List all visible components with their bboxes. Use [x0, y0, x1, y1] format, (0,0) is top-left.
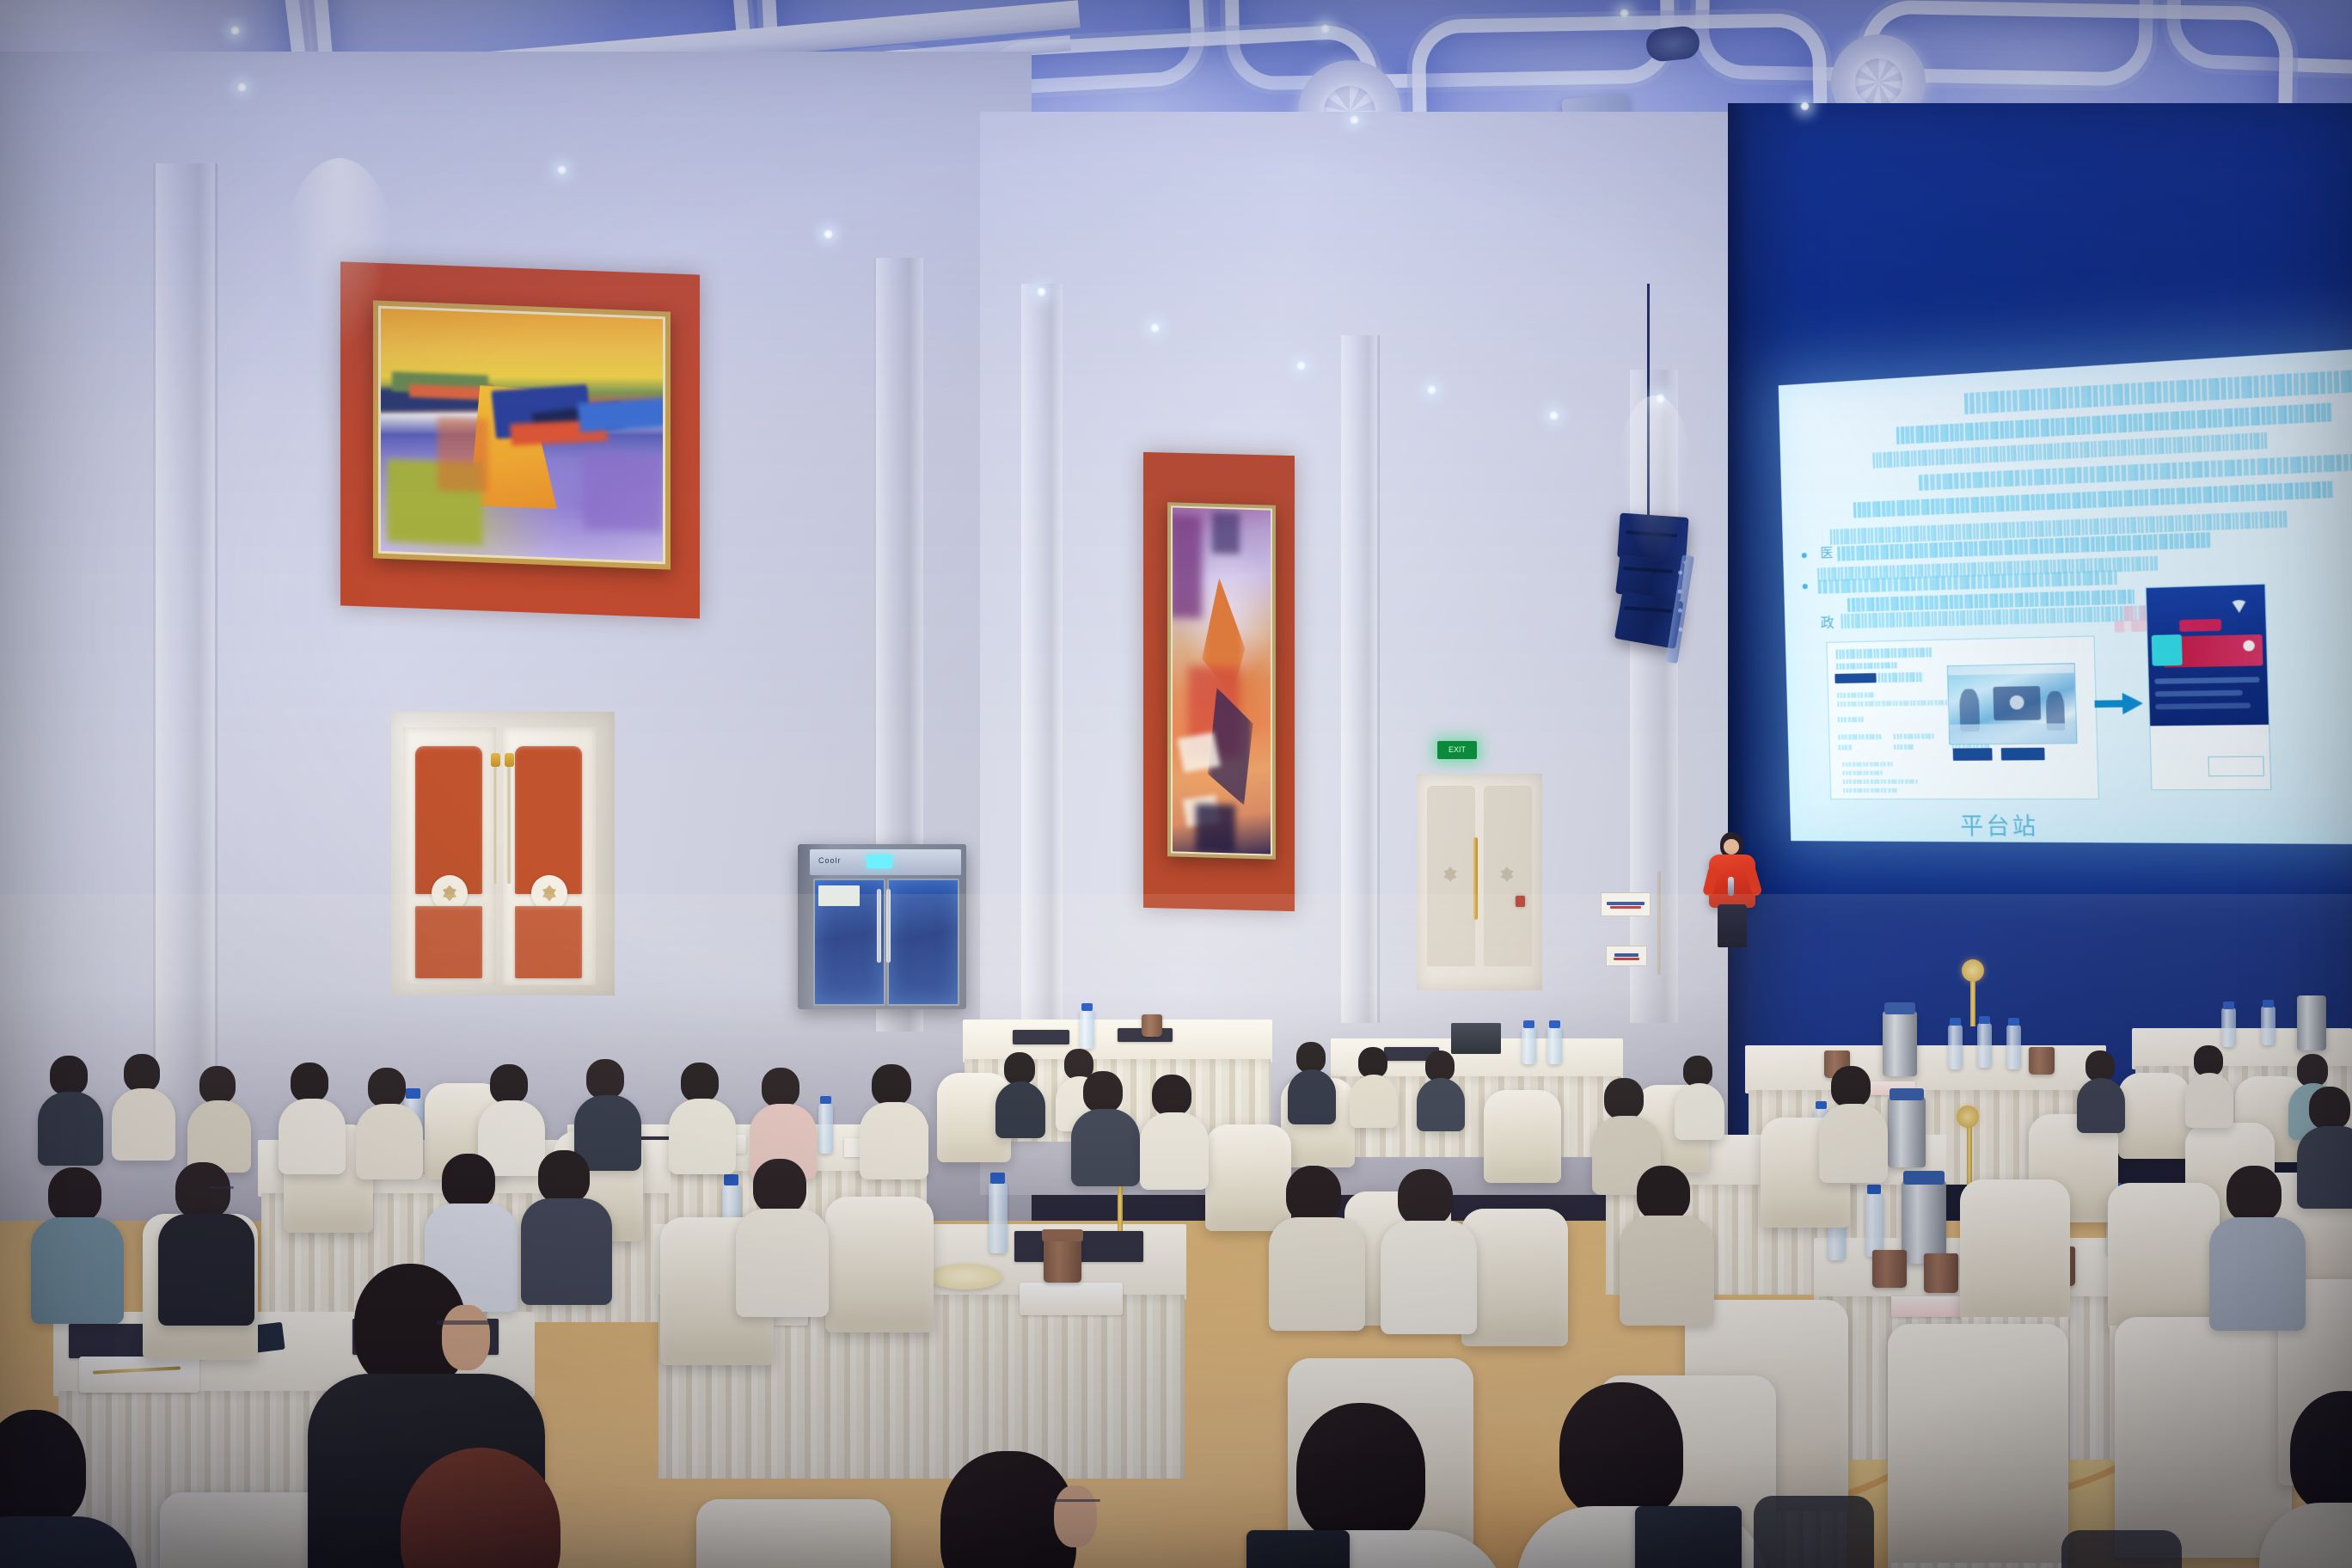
- audience-seating-area: [0, 894, 2352, 1568]
- bottle-cap: [1979, 1016, 1990, 1024]
- ceiling-downlight: [237, 83, 247, 92]
- attendee-head: [1425, 1050, 1455, 1081]
- card-stat-value: [1839, 744, 1853, 750]
- attendee-head: [1083, 1071, 1123, 1112]
- bottle-cap: [1950, 1018, 1961, 1026]
- shoulder-bag: [1246, 1530, 1350, 1568]
- mobile-app-screenshot: [2146, 584, 2272, 791]
- card-list-item: [1842, 771, 1882, 775]
- attendee-head: [368, 1068, 406, 1107]
- ceiling-downlight: [230, 26, 240, 35]
- banquet-chair[interactable]: [1205, 1124, 1291, 1231]
- attendee-torso: [1819, 1104, 1888, 1183]
- vacuum-thermos: [1888, 1097, 1926, 1167]
- bottle-cap: [820, 1096, 831, 1104]
- tote-bag: [1635, 1506, 1742, 1568]
- attendee-head: [753, 1159, 806, 1214]
- bottle-cap: [406, 1088, 420, 1099]
- slide-secondary-button: [2001, 748, 2045, 761]
- attendee-head: [1296, 1042, 1326, 1073]
- table-number-medallion: [1957, 1106, 1979, 1128]
- attendee-head: [681, 1063, 719, 1102]
- attendee-head: [2309, 1087, 2350, 1130]
- thermos-lid: [1903, 1171, 1945, 1185]
- ceiling-downlight: [1350, 115, 1359, 125]
- attendee-head: [872, 1064, 911, 1106]
- phone-badge-red: [2179, 619, 2221, 632]
- attendee-head: [1637, 1166, 1690, 1221]
- attendee-torso: [31, 1217, 124, 1324]
- attendee-torso: [1381, 1221, 1477, 1334]
- card-tag-badge: [1834, 673, 1876, 683]
- water-bottle: [2261, 1006, 2275, 1045]
- attendee-torso: [1350, 1075, 1398, 1128]
- exit-sign: EXIT: [1437, 741, 1477, 759]
- attendee-torso: [1675, 1083, 1724, 1140]
- banquet-chair[interactable]: [2108, 1183, 2220, 1331]
- door-handle-cap: [491, 753, 500, 767]
- photo-monitor-logo: [2010, 695, 2024, 710]
- banquet-chair[interactable]: [696, 1499, 891, 1568]
- candy-plate: [928, 1264, 1002, 1289]
- phone-badge-cyan: [2152, 634, 2183, 666]
- water-bottle: [1948, 1025, 1963, 1069]
- attendee-head: [50, 1056, 88, 1095]
- attendee-torso: [2209, 1217, 2306, 1331]
- attendee-torso: [1620, 1216, 1714, 1326]
- slide-bullet-marker: [1802, 553, 1807, 558]
- bottle-cap: [1816, 1101, 1827, 1109]
- banquet-chair[interactable]: [1461, 1209, 1568, 1346]
- meeting-room-photo: [1947, 663, 2078, 744]
- attendee-torso: [2185, 1073, 2233, 1128]
- attendee-head: [2086, 1050, 2115, 1081]
- eyeglasses: [1050, 1499, 1100, 1502]
- table-number-stand: [1967, 1124, 1972, 1190]
- placemat: [1013, 1030, 1069, 1044]
- card-meta-text: [1836, 662, 1897, 670]
- cooler-display: [867, 854, 892, 868]
- attendee-torso: [860, 1102, 928, 1179]
- bottle-cap: [1549, 1020, 1560, 1028]
- card-body-text: [1838, 717, 1864, 722]
- ceramic-teacup: [2029, 1047, 2055, 1075]
- right-arrow-icon: [2094, 690, 2143, 716]
- attendee-head: [586, 1059, 624, 1099]
- attendee-torso: [669, 1099, 736, 1174]
- water-bottle: [989, 1183, 1008, 1253]
- attendee-head: [2226, 1166, 2282, 1222]
- table-number-stand: [1970, 977, 1975, 1026]
- attendee-torso: [995, 1081, 1045, 1138]
- attendee-face: [1054, 1485, 1097, 1547]
- card-list-item: [1843, 780, 1918, 784]
- card-stat-label: [1838, 734, 1881, 740]
- door-handle[interactable]: [493, 763, 498, 884]
- folded-napkin: [1020, 1283, 1123, 1315]
- bottle-cap: [2223, 1001, 2234, 1009]
- conference-hall-photo: EXIT Coolr: [0, 0, 2352, 1568]
- card-list-item: [1843, 788, 1897, 793]
- attendee-torso: [2077, 1078, 2125, 1133]
- attendee-head: [490, 1064, 528, 1104]
- folded-napkin: [79, 1357, 199, 1393]
- attendee-head: [1358, 1047, 1387, 1078]
- thermos-lid: [1890, 1088, 1924, 1100]
- water-bottle: [1865, 1193, 1883, 1257]
- attendee-torso: [1071, 1109, 1140, 1186]
- card-body-text: [1837, 700, 1956, 707]
- bottle-cap: [2008, 1018, 2019, 1026]
- ceiling-downlight: [1296, 361, 1306, 371]
- attendee-torso: [2297, 1126, 2352, 1209]
- attendee-head: [762, 1068, 799, 1107]
- presenter-face: [1724, 839, 1739, 854]
- photo-desk: [1950, 723, 2077, 744]
- card-list-item: [1842, 762, 1892, 766]
- ceiling-downlight: [1037, 287, 1046, 297]
- banquet-chair[interactable]: [1888, 1324, 2068, 1568]
- slide-glyph-left: 医: [1820, 543, 1834, 562]
- vacuum-thermos: [1902, 1181, 1946, 1264]
- attendee-head: [1831, 1066, 1871, 1107]
- card-title-text: [1836, 647, 1932, 659]
- attendee-head: [1398, 1169, 1453, 1226]
- photo-toolbar: [1948, 664, 2074, 675]
- attendee-torso: [279, 1099, 346, 1174]
- card-stat-label: [1894, 733, 1934, 739]
- attendee-head: [1286, 1166, 1341, 1222]
- ceramic-teacup: [1924, 1253, 1958, 1293]
- vacuum-thermos: [1883, 1011, 1917, 1076]
- thermos-lid: [1884, 1002, 1915, 1014]
- eyeglasses: [437, 1320, 493, 1325]
- slide-caption-chinese: 平台站: [1960, 808, 2039, 842]
- slide-primary-button: [1953, 748, 1993, 761]
- slide-glyph-left: 政: [1820, 610, 1834, 632]
- attendee-head: [2297, 1054, 2328, 1087]
- card-stat-value: [1894, 744, 1914, 750]
- attendee-torso: [158, 1214, 254, 1326]
- banquet-chair[interactable]: [2118, 1073, 2190, 1159]
- table-number-medallion: [1962, 959, 1984, 982]
- attendee-torso: [1140, 1112, 1209, 1190]
- water-bottle: [2221, 1008, 2236, 1047]
- water-bottle: [2006, 1025, 2021, 1069]
- seated-legs: [1754, 1496, 1874, 1568]
- vacuum-thermos: [2297, 995, 2326, 1050]
- attendee-head: [0, 1410, 86, 1525]
- attendee-head: [2194, 1045, 2223, 1076]
- ceiling-downlight: [557, 165, 567, 175]
- slide-text-row: [1896, 403, 2333, 445]
- exit-sign-label: EXIT: [1449, 746, 1466, 754]
- banquet-chair[interactable]: [825, 1197, 934, 1332]
- bottle-cap: [990, 1173, 1005, 1184]
- attendee-head: [48, 1167, 101, 1222]
- attendee-face: [442, 1305, 490, 1370]
- teacup-lid: [1042, 1229, 1083, 1241]
- eyeglasses: [208, 1186, 234, 1189]
- attendee-torso: [1269, 1217, 1365, 1331]
- attendee-head: [538, 1150, 590, 1204]
- phone-bottom-field: [2208, 756, 2264, 776]
- door-panel: [515, 746, 582, 894]
- attendee-torso: [38, 1092, 103, 1166]
- attendee-head: [175, 1162, 230, 1219]
- abstract-vertical-painting: [1171, 505, 1272, 855]
- attendee-torso: [1288, 1069, 1336, 1124]
- slide-bullet-marker: [1803, 584, 1808, 589]
- card-body-text: [1837, 692, 1875, 698]
- attendee-head: [124, 1054, 160, 1092]
- attendee-torso: [356, 1104, 423, 1179]
- chair-skirt: [1891, 1563, 2067, 1568]
- water-bottle: [1080, 1009, 1094, 1049]
- ceramic-teacup: [1044, 1240, 1081, 1283]
- wifi-icon: [2226, 592, 2252, 617]
- attendee-head: [442, 1154, 495, 1209]
- attendee-torso: [112, 1088, 175, 1161]
- bottle-cap: [1081, 1003, 1093, 1011]
- water-bottle: [818, 1104, 833, 1154]
- bottle-cap: [1523, 1020, 1534, 1028]
- ceiling-downlight: [1427, 385, 1436, 395]
- attendee-torso: [521, 1198, 612, 1305]
- projection-screen: 医 政: [1779, 347, 2352, 844]
- ceramic-teacup: [1872, 1250, 1907, 1288]
- attendee-torso: [1417, 1078, 1465, 1131]
- bottle-cap: [1867, 1185, 1881, 1194]
- attendee-head: [1559, 1382, 1683, 1518]
- water-bottle: [1522, 1026, 1536, 1064]
- cooler-brand-label: Coolr: [818, 856, 842, 865]
- downlight-glow: [1616, 395, 1694, 567]
- artwork-frame-center: [1167, 502, 1276, 860]
- ceramic-teacup: [1142, 1014, 1162, 1037]
- downlight-glow: [284, 158, 395, 356]
- bottle-cap: [2263, 1000, 2274, 1008]
- attendee-head: [1604, 1078, 1644, 1119]
- attendee-torso: [736, 1209, 829, 1317]
- water-bottle: [1547, 1026, 1562, 1064]
- ceiling-downlight: [1320, 24, 1330, 34]
- attendee-head: [1004, 1052, 1035, 1085]
- door-handle[interactable]: [506, 763, 511, 884]
- bottle-cap: [724, 1174, 738, 1185]
- door-panel: [415, 746, 482, 894]
- ceiling-downlight: [1800, 101, 1810, 111]
- water-bottle: [1977, 1023, 1992, 1068]
- card-tag-text: [1877, 672, 1923, 683]
- ceiling-downlight: [1150, 323, 1160, 333]
- attendee-head: [1296, 1403, 1425, 1542]
- seated-legs: [2061, 1530, 2182, 1568]
- banquet-chair[interactable]: [2115, 1317, 2292, 1558]
- laptop[interactable]: [1451, 1023, 1501, 1054]
- abstract-landscape-painting: [378, 306, 665, 565]
- door-handle-cap: [505, 753, 514, 767]
- ceiling-downlight: [1549, 411, 1559, 420]
- banquet-chair[interactable]: [1960, 1179, 2070, 1322]
- ceiling-rosette: [1855, 58, 1902, 106]
- handheld-microphone: [1728, 877, 1734, 896]
- attendee-head: [291, 1063, 328, 1102]
- attendee-head: [199, 1066, 236, 1104]
- attendee-head: [1152, 1075, 1191, 1116]
- banquet-chair[interactable]: [1484, 1090, 1561, 1183]
- ceiling-downlight: [824, 230, 833, 239]
- artwork-frame-left: [373, 300, 671, 569]
- ceiling-downlight: [1620, 9, 1629, 18]
- attendee-head: [1683, 1056, 1712, 1087]
